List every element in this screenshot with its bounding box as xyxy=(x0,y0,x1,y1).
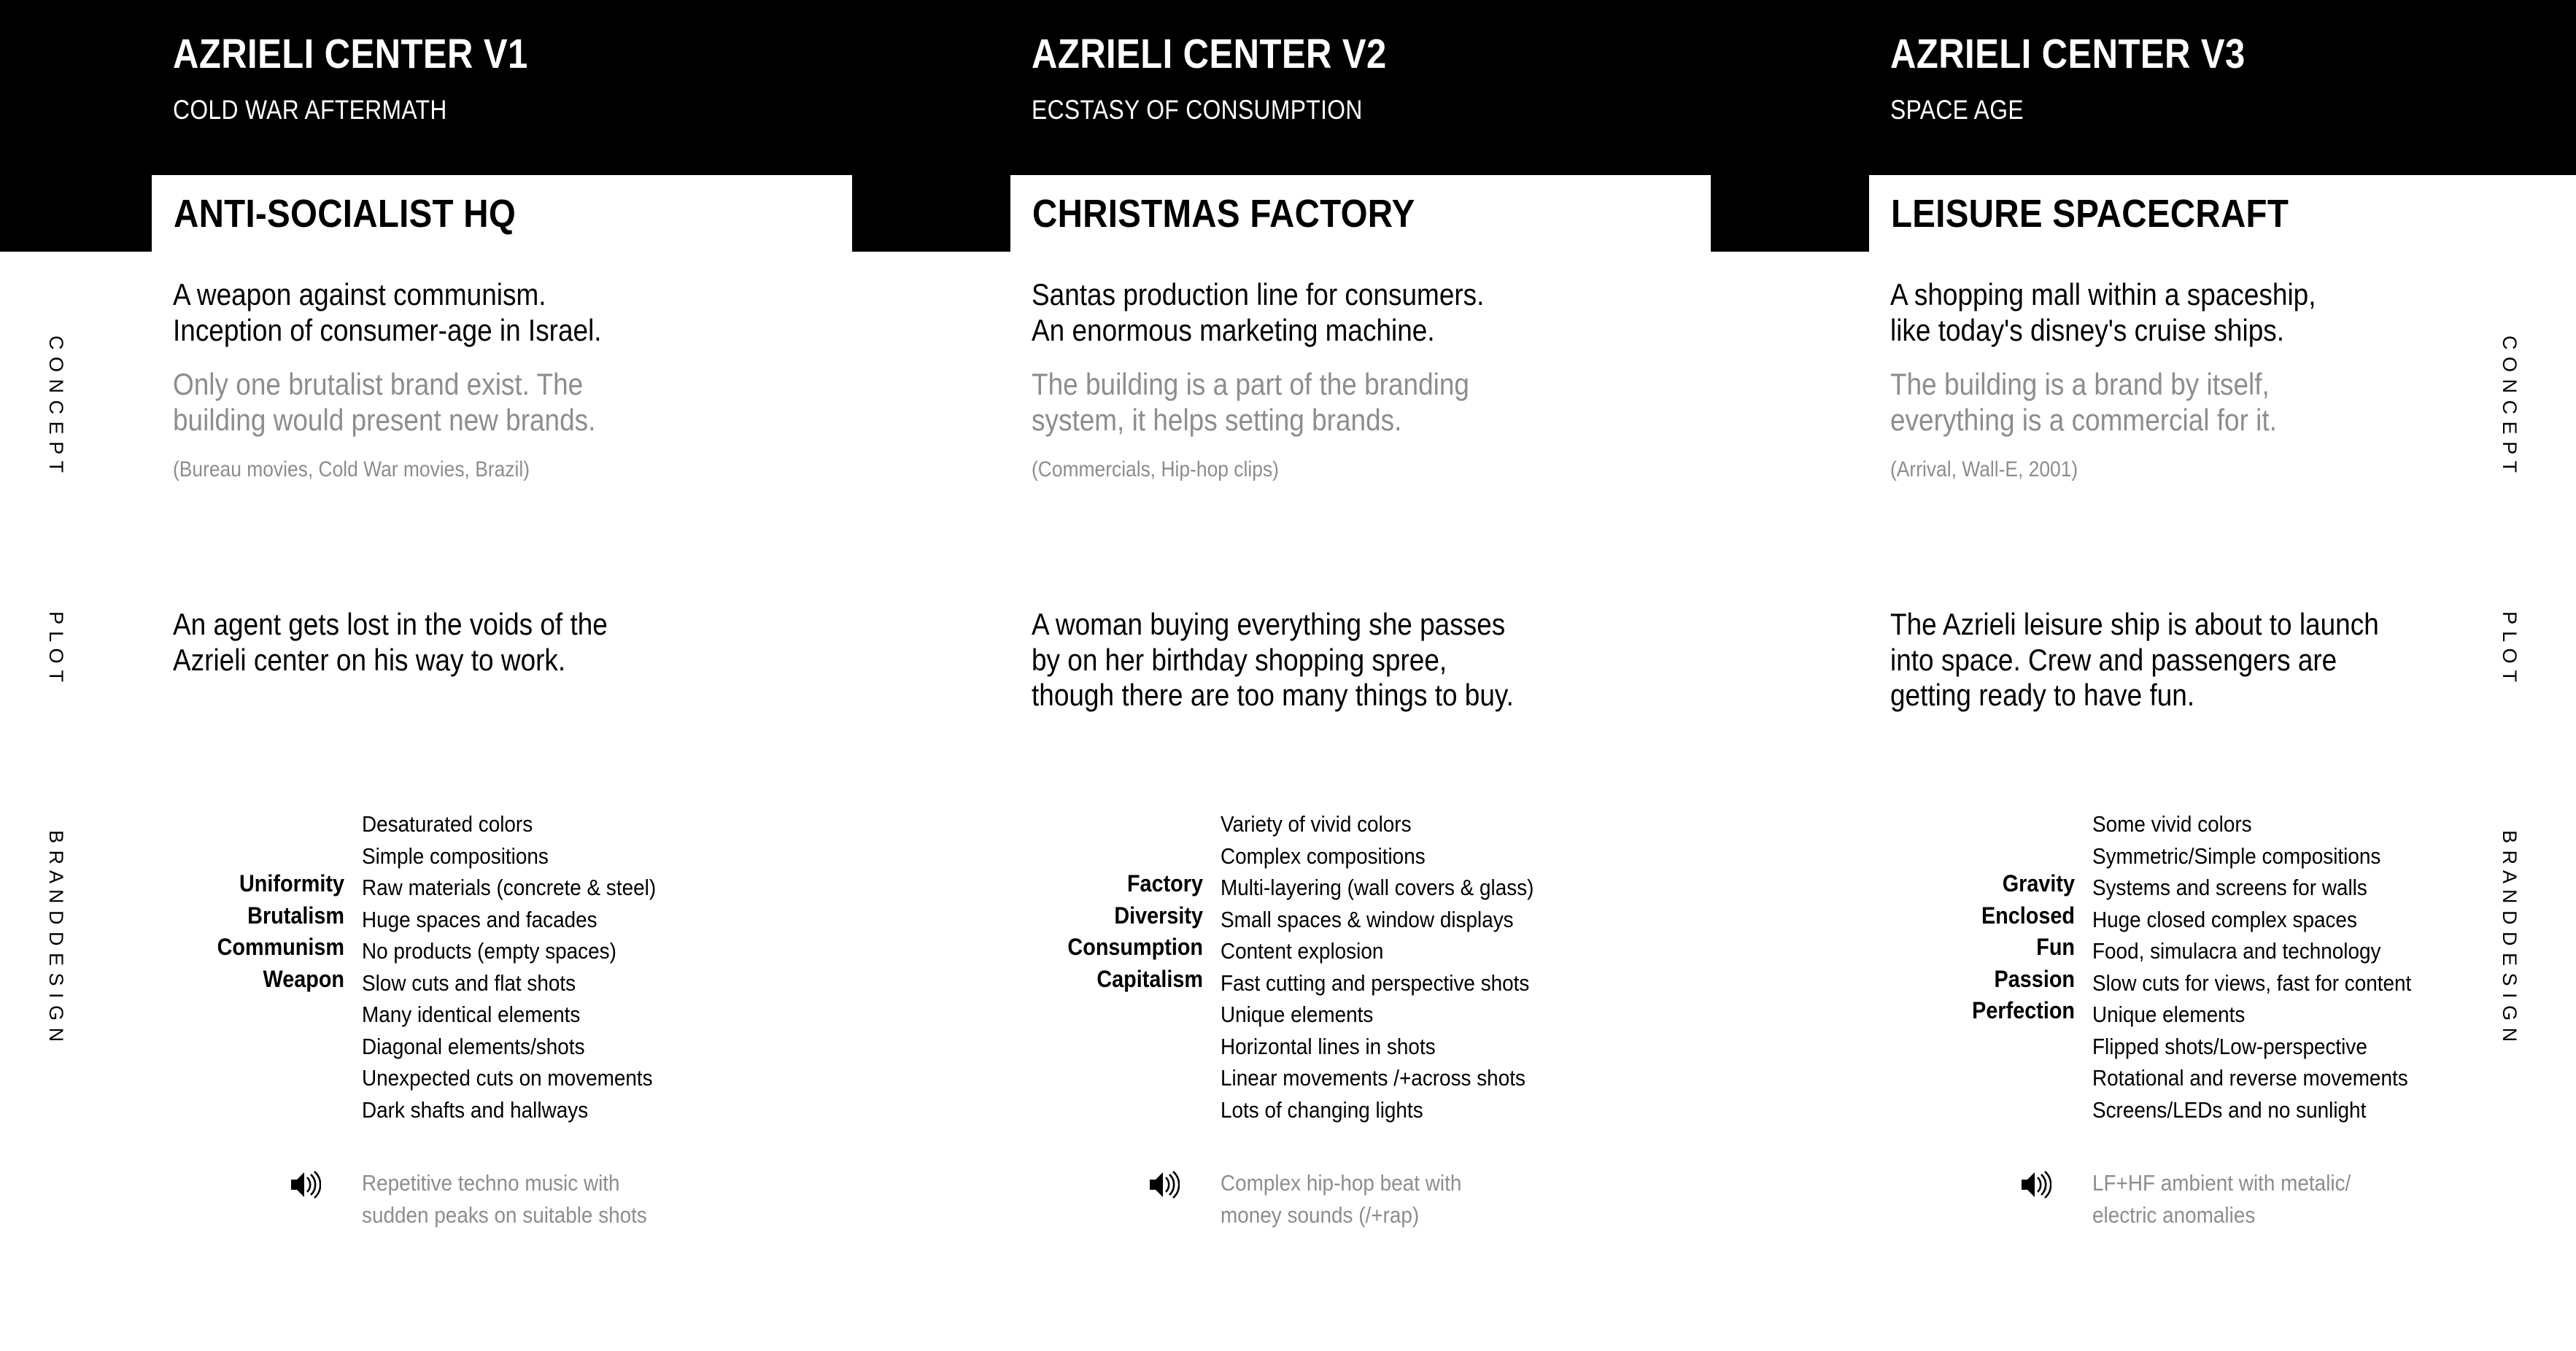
brand-traits: Some vivid colors Symmetric/Simple compo… xyxy=(2092,808,2552,1126)
column-header-title: AZRIELI CENTER V1 xyxy=(173,34,528,75)
tab-label: LEISURE SPACECRAFT xyxy=(1891,194,2289,233)
tab-label: ANTI-SOCIALIST HQ xyxy=(174,194,516,233)
concept-main-text: A shopping mall within a spaceship, like… xyxy=(1890,277,2565,348)
speaker-wave-icon xyxy=(2019,1170,2051,1199)
audio-row: LF+HF ambient with metalic/ electric ano… xyxy=(2019,1167,2380,1231)
audio-description: Complex hip-hop beat with money sounds (… xyxy=(1221,1167,1461,1231)
brand-keywords: Gravity Enclosed Fun Passion Perfection xyxy=(1753,868,2075,1027)
rail-label-plot: P L O T xyxy=(31,611,82,662)
column-header-subtitle: SPACE AGE xyxy=(1890,96,2024,123)
rail-label-concept-text: C O N C E P T xyxy=(31,336,82,387)
rail-label-plot-text: P L O T xyxy=(31,611,82,662)
concept-board: AZRIELI CENTER V1 COLD WAR AFTERMATH ANT… xyxy=(0,0,2576,1351)
column-header-subtitle: ECSTASY OF CONSUMPTION xyxy=(1032,96,1363,123)
concept-section: Santas production line for consumers. An… xyxy=(1032,277,1710,483)
brand-traits: Desaturated colors Simple compositions R… xyxy=(362,808,821,1126)
rail-label-concept: C O N C E P T xyxy=(2484,336,2535,387)
audio-description: Repetitive techno music with sudden peak… xyxy=(362,1167,647,1231)
band-filler-gap-2 xyxy=(1711,175,1869,252)
brand-traits: Variety of vivid colors Complex composit… xyxy=(1221,808,1680,1126)
column-header-title: AZRIELI CENTER V2 xyxy=(1032,34,1387,75)
rail-label-brand-design-text: B R A N D D E S I G N xyxy=(2484,830,2535,881)
tab-anti-socialist-hq[interactable]: ANTI-SOCIALIST HQ xyxy=(152,175,852,252)
column-header-subtitle: COLD WAR AFTERMATH xyxy=(173,96,447,123)
concept-main-text: Santas production line for consumers. An… xyxy=(1032,277,1706,348)
speaker-wave-icon xyxy=(1148,1170,1180,1199)
plot-text: A woman buying everything she passes by … xyxy=(1032,607,1667,713)
concept-section: A shopping mall within a spaceship, like… xyxy=(1890,277,2569,483)
rail-label-brand-design-text: B R A N D D E S I G N xyxy=(31,830,82,881)
header-band xyxy=(0,0,2576,175)
concept-reference-text: (Bureau movies, Cold War movies, Brazil) xyxy=(173,457,848,483)
column-header-title: AZRIELI CENTER V3 xyxy=(1890,34,2246,75)
tab-christmas-factory[interactable]: CHRISTMAS FACTORY xyxy=(1010,175,1711,252)
audio-row: Complex hip-hop beat with money sounds (… xyxy=(1148,1167,1488,1231)
band-filler-gap-1 xyxy=(852,175,1010,252)
side-rail-right: C O N C E P T P L O T B R A N D D E S I … xyxy=(2484,0,2535,1351)
concept-main-text: A weapon against communism. Inception of… xyxy=(173,277,848,348)
tab-label: CHRISTMAS FACTORY xyxy=(1032,194,1415,233)
concept-sub-text: The building is a part of the branding s… xyxy=(1032,367,1706,438)
brand-keywords: Factory Diversity Consumption Capitalism xyxy=(893,868,1203,995)
plot-text: An agent gets lost in the voids of the A… xyxy=(173,607,808,678)
concept-reference-text: (Commercials, Hip-hop clips) xyxy=(1032,457,1706,483)
side-rail-left: C O N C E P T P L O T B R A N D D E S I … xyxy=(31,0,82,1351)
concept-section: A weapon against communism. Inception of… xyxy=(173,277,851,483)
concept-sub-text: Only one brutalist brand exist. The buil… xyxy=(173,367,848,438)
audio-description: LF+HF ambient with metalic/ electric ano… xyxy=(2092,1167,2351,1231)
rail-label-brand-design: B R A N D D E S I G N xyxy=(31,830,82,881)
concept-sub-text: The building is a brand by itself, every… xyxy=(1890,367,2565,438)
rail-label-plot: P L O T xyxy=(2484,611,2535,662)
tab-leisure-spacecraft[interactable]: LEISURE SPACECRAFT xyxy=(1869,175,2576,252)
audio-row: Repetitive techno music with sudden peak… xyxy=(289,1167,678,1231)
rail-label-plot-text: P L O T xyxy=(2484,611,2535,662)
rail-label-brand-design: B R A N D D E S I G N xyxy=(2484,830,2535,881)
plot-text: The Azrieli leisure ship is about to lau… xyxy=(1890,607,2526,713)
speaker-wave-icon xyxy=(289,1170,321,1199)
concept-reference-text: (Arrival, Wall-E, 2001) xyxy=(1890,457,2565,483)
rail-label-concept: C O N C E P T xyxy=(31,336,82,387)
rail-label-concept-text: C O N C E P T xyxy=(2484,336,2535,387)
